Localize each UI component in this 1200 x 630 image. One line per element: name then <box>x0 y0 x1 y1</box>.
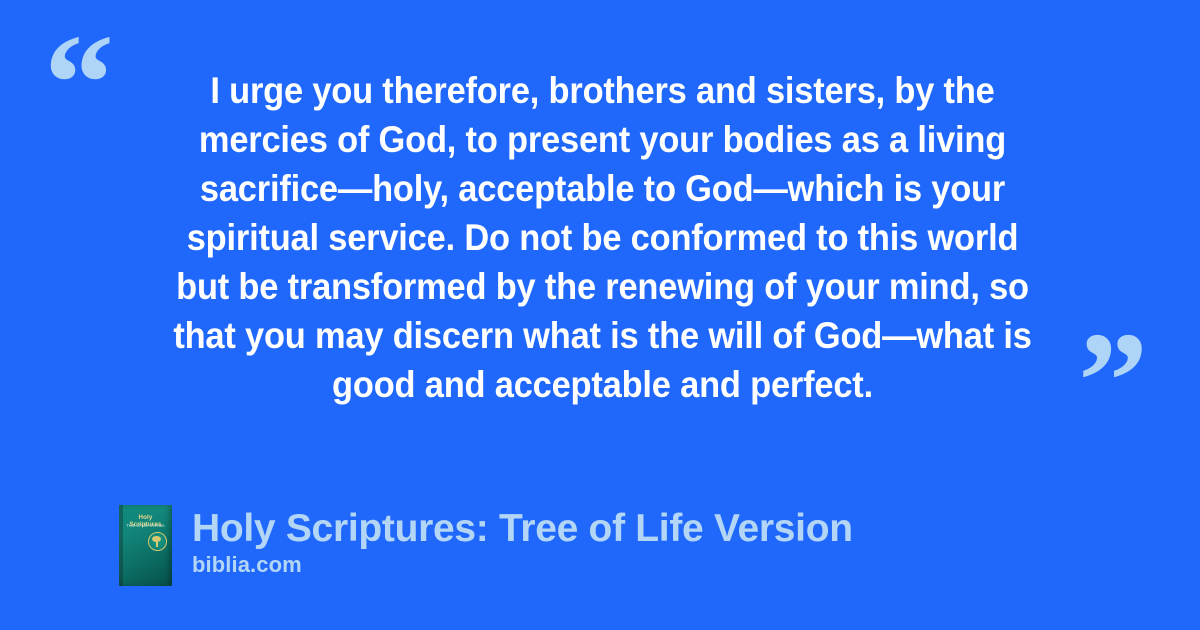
verse-image-card: “ I urge you therefore, brothers and sis… <box>0 0 1200 630</box>
opening-quote-icon: “ <box>44 14 114 154</box>
book-spine <box>119 505 123 586</box>
book-cover-title-line-2: Tree of Life Version <box>124 523 167 528</box>
attribution-text: Holy Scriptures: Tree of Life Version bi… <box>192 505 853 578</box>
book-cover-icon: Holy Scriptures Tree of Life Version <box>119 505 172 586</box>
quote-block: I urge you therefore, brothers and siste… <box>110 66 1095 409</box>
tree-emblem-icon <box>148 532 167 551</box>
quote-text: I urge you therefore, brothers and siste… <box>144 66 1060 409</box>
closing-quote-icon: ” <box>1078 312 1148 452</box>
resource-url[interactable]: biblia.com <box>192 551 853 578</box>
attribution-footer: Holy Scriptures Tree of Life Version Hol… <box>119 505 853 586</box>
resource-title: Holy Scriptures: Tree of Life Version <box>192 507 853 551</box>
